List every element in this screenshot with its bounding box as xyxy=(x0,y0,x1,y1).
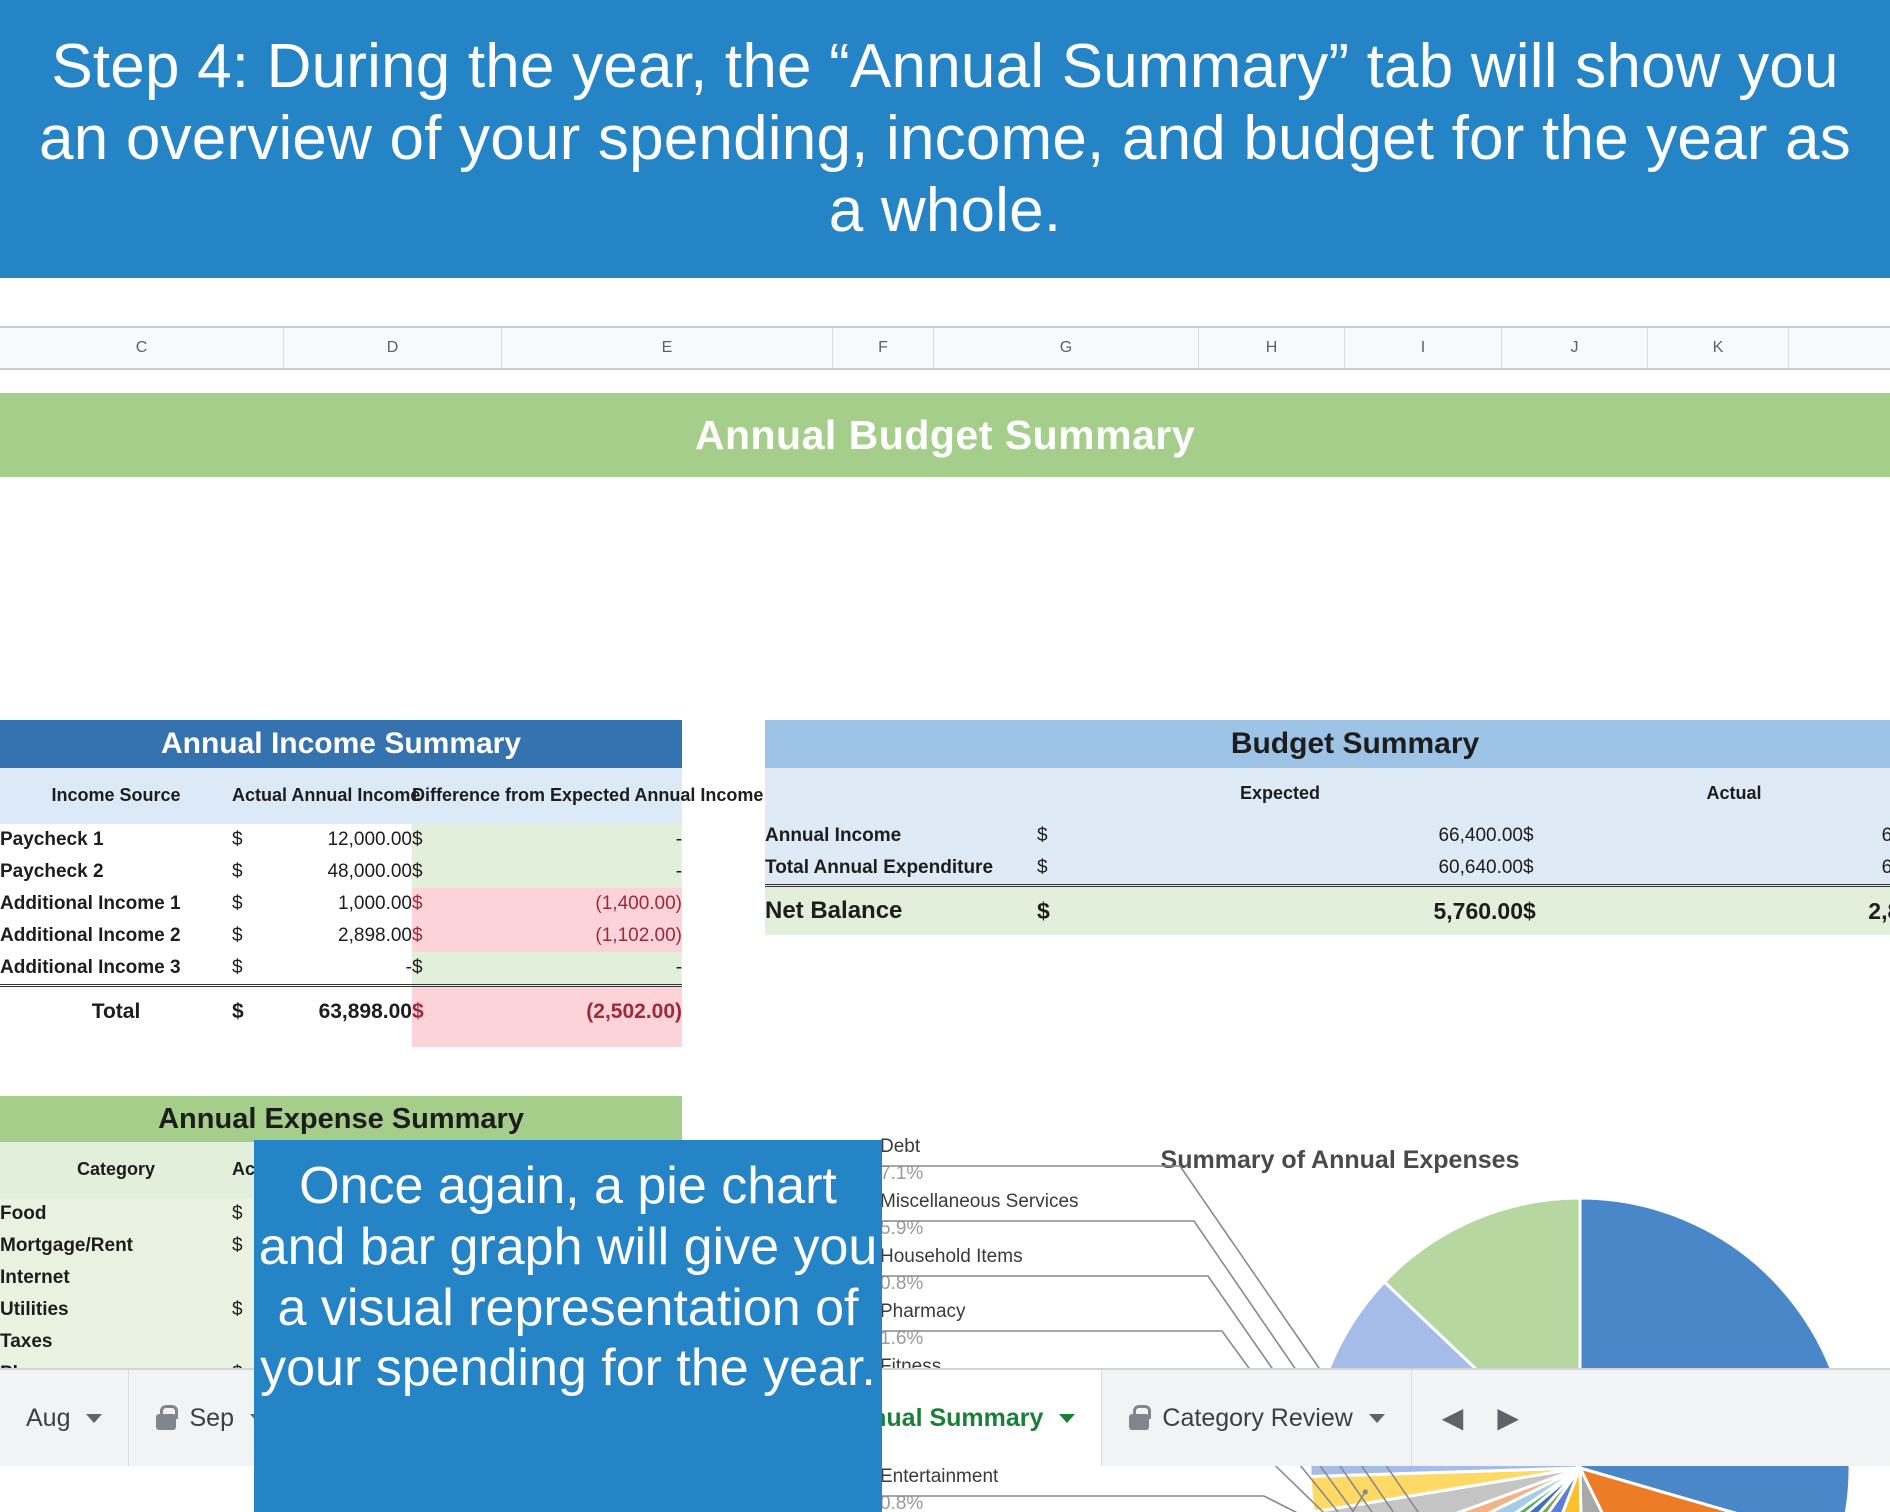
pie-leader-dot xyxy=(1363,1489,1368,1494)
budget-col-actual: Actual xyxy=(1523,768,1890,820)
annual-budget-summary-banner: Annual Budget Summary xyxy=(0,393,1890,477)
annual-budget-summary-title: Annual Budget Summary xyxy=(695,412,1195,459)
lock-icon xyxy=(1128,1405,1150,1431)
budget-actual: 61,002. xyxy=(1559,852,1890,886)
table-row[interactable]: Paycheck 2 $ 48,000.00 $ - xyxy=(0,856,682,888)
table-row[interactable]: Additional Income 3 $ - $ - xyxy=(0,952,682,986)
budget-expected: 60,640.00 xyxy=(1073,852,1523,886)
column-header-c[interactable]: C xyxy=(0,328,284,368)
annual-income-summary-table: Annual Income Summary Income Source Actu… xyxy=(0,720,682,1047)
income-difference: (1,400.00) xyxy=(446,888,682,920)
income-col-actual: Actual Annual Income xyxy=(232,768,412,824)
budget-table-title: Budget Summary xyxy=(765,720,1890,768)
budget-summary-table: Budget Summary Expected Actual Annual In… xyxy=(765,720,1890,935)
budget-expected: 66,400.00 xyxy=(1073,820,1523,852)
expense-col-category: Category xyxy=(0,1142,232,1198)
net-balance-row: Net Balance $ 5,760.00 $ 2,895.5 xyxy=(765,886,1890,936)
currency-symbol: $ xyxy=(1523,820,1559,852)
income-source: Additional Income 1 xyxy=(0,888,232,920)
income-actual: 2,898.00 xyxy=(266,920,412,952)
column-header-d[interactable]: D xyxy=(284,328,502,368)
pie-leader-line xyxy=(880,1492,1365,1512)
budget-col-expected: Expected xyxy=(1037,768,1523,820)
column-header-row: CDEFGHIJK xyxy=(0,326,1890,370)
income-source: Paycheck 1 xyxy=(0,824,232,856)
income-source: Additional Income 3 xyxy=(0,952,232,986)
income-actual: 12,000.00 xyxy=(266,824,412,856)
currency-symbol: $ xyxy=(412,824,446,856)
income-total-row: Total $ 63,898.00 $ (2,502.00) xyxy=(0,986,682,1038)
income-difference: - xyxy=(446,824,682,856)
table-row[interactable]: Annual Income $ 66,400.00 $ 63,898. xyxy=(765,820,1890,852)
sheet-tab-label: Aug xyxy=(26,1404,70,1433)
income-table-title-row: Annual Income Summary xyxy=(0,720,682,768)
income-actual: 1,000.00 xyxy=(266,888,412,920)
pie-label-name: Entertainment xyxy=(880,1466,999,1487)
budget-col-blank xyxy=(765,768,1037,820)
expense-category: Mortgage/Rent xyxy=(0,1230,232,1262)
sheet-tab-label: Category Review xyxy=(1162,1404,1352,1433)
lock-icon xyxy=(155,1405,177,1431)
currency-symbol: $ xyxy=(232,888,266,920)
chevron-down-icon[interactable] xyxy=(1059,1414,1075,1423)
net-balance-expected: 5,760.00 xyxy=(1073,886,1523,936)
currency-symbol: $ xyxy=(1037,886,1073,936)
currency-symbol: $ xyxy=(232,920,266,952)
table-row[interactable]: Paycheck 1 $ 12,000.00 $ - xyxy=(0,824,682,856)
callout-overlay: Once again, a pie chart and bar graph wi… xyxy=(254,1140,882,1512)
income-table-header-row: Income Source Actual Annual Income Diffe… xyxy=(0,768,682,824)
currency-symbol: $ xyxy=(232,824,266,856)
income-source: Paycheck 2 xyxy=(0,856,232,888)
expense-table-title: Annual Expense Summary xyxy=(0,1096,682,1142)
next-sheet-arrow-icon[interactable]: ▶ xyxy=(1497,1404,1519,1432)
currency-symbol: $ xyxy=(412,856,446,888)
currency-symbol: $ xyxy=(412,986,446,1038)
budget-table-header-row: Expected Actual xyxy=(765,768,1890,820)
budget-row-label: Total Annual Expenditure xyxy=(765,852,1037,886)
callout-text: Once again, a pie chart and bar graph wi… xyxy=(254,1156,882,1399)
pie-label-name: Pharmacy xyxy=(880,1301,966,1322)
income-total-difference: (2,502.00) xyxy=(446,986,682,1038)
income-difference: - xyxy=(446,856,682,888)
income-col-source: Income Source xyxy=(0,768,232,824)
budget-table-title-row: Budget Summary xyxy=(765,720,1890,768)
sheet-tab-category-review[interactable]: Category Review xyxy=(1102,1370,1411,1466)
expense-category: Utilities xyxy=(0,1294,232,1326)
income-difference: - xyxy=(446,952,682,986)
currency-symbol: $ xyxy=(232,952,266,986)
income-total-actual: 63,898.00 xyxy=(266,986,412,1038)
table-row[interactable]: Additional Income 1 $ 1,000.00 $ (1,400.… xyxy=(0,888,682,920)
currency-symbol: $ xyxy=(1037,820,1073,852)
currency-symbol: $ xyxy=(232,856,266,888)
pie-leader-line xyxy=(880,1496,1383,1512)
net-balance-label: Net Balance xyxy=(765,886,1037,936)
column-header-f[interactable]: F xyxy=(833,328,934,368)
chevron-down-icon[interactable] xyxy=(86,1414,102,1423)
previous-sheet-arrow-icon[interactable]: ◀ xyxy=(1442,1404,1464,1432)
currency-symbol: $ xyxy=(232,986,266,1038)
table-row[interactable]: Additional Income 2 $ 2,898.00 $ (1,102.… xyxy=(0,920,682,952)
expense-category: Internet xyxy=(0,1262,232,1294)
pie-label-name: Debt xyxy=(880,1138,921,1157)
budget-actual: 63,898. xyxy=(1559,820,1890,852)
expense-category: Food xyxy=(0,1198,232,1230)
income-table-title: Annual Income Summary xyxy=(0,720,682,768)
currency-symbol: $ xyxy=(412,920,446,952)
column-header-g[interactable]: G xyxy=(934,328,1199,368)
pie-label-name: Household Items xyxy=(880,1246,1023,1267)
income-difference: (1,102.00) xyxy=(446,920,682,952)
currency-symbol: $ xyxy=(1523,852,1559,886)
instruction-banner-text: Step 4: During the year, the “Annual Sum… xyxy=(0,31,1890,247)
income-col-difference: Difference from Expected Annual Income xyxy=(412,768,682,824)
income-source: Additional Income 2 xyxy=(0,920,232,952)
net-balance-actual: 2,895.5 xyxy=(1559,886,1890,936)
currency-symbol: $ xyxy=(1523,886,1559,936)
chevron-down-icon[interactable] xyxy=(1369,1414,1385,1423)
sheet-tab-aug[interactable]: Aug xyxy=(0,1370,129,1466)
sheet-tab-nav: ◀ ▶ xyxy=(1412,1370,1549,1466)
expense-category: Taxes xyxy=(0,1326,232,1358)
income-actual: - xyxy=(266,952,412,986)
spacer-row xyxy=(0,1037,682,1047)
budget-row-label: Annual Income xyxy=(765,820,1037,852)
currency-symbol: $ xyxy=(412,952,446,986)
currency-symbol: $ xyxy=(1037,852,1073,886)
expense-table-title-row: Annual Expense Summary xyxy=(0,1096,682,1142)
income-actual: 48,000.00 xyxy=(266,856,412,888)
income-total-label: Total xyxy=(0,986,232,1038)
column-header-e[interactable]: E xyxy=(502,328,833,368)
pie-label-name: Miscellaneous Services xyxy=(880,1191,1079,1212)
column-header-j[interactable]: J xyxy=(1502,328,1648,368)
column-header-h[interactable]: H xyxy=(1199,328,1345,368)
sheet-tab-label: Sep xyxy=(189,1404,233,1433)
column-header-i[interactable]: I xyxy=(1345,328,1502,368)
table-row[interactable]: Total Annual Expenditure $ 60,640.00 $ 6… xyxy=(765,852,1890,886)
instruction-banner: Step 4: During the year, the “Annual Sum… xyxy=(0,0,1890,278)
currency-symbol: $ xyxy=(412,888,446,920)
column-header-k[interactable]: K xyxy=(1648,328,1789,368)
